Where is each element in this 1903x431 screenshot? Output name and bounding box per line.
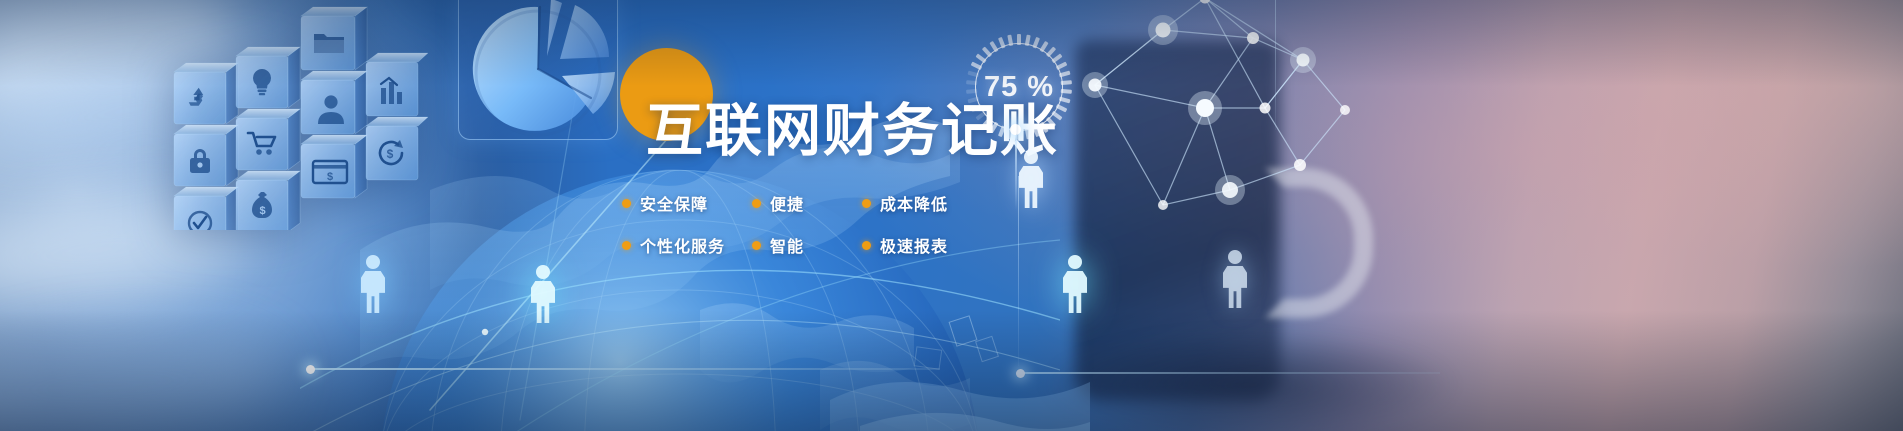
marketing-banner: $ $ xyxy=(0,0,1903,431)
vignette-overlay xyxy=(0,0,1903,431)
